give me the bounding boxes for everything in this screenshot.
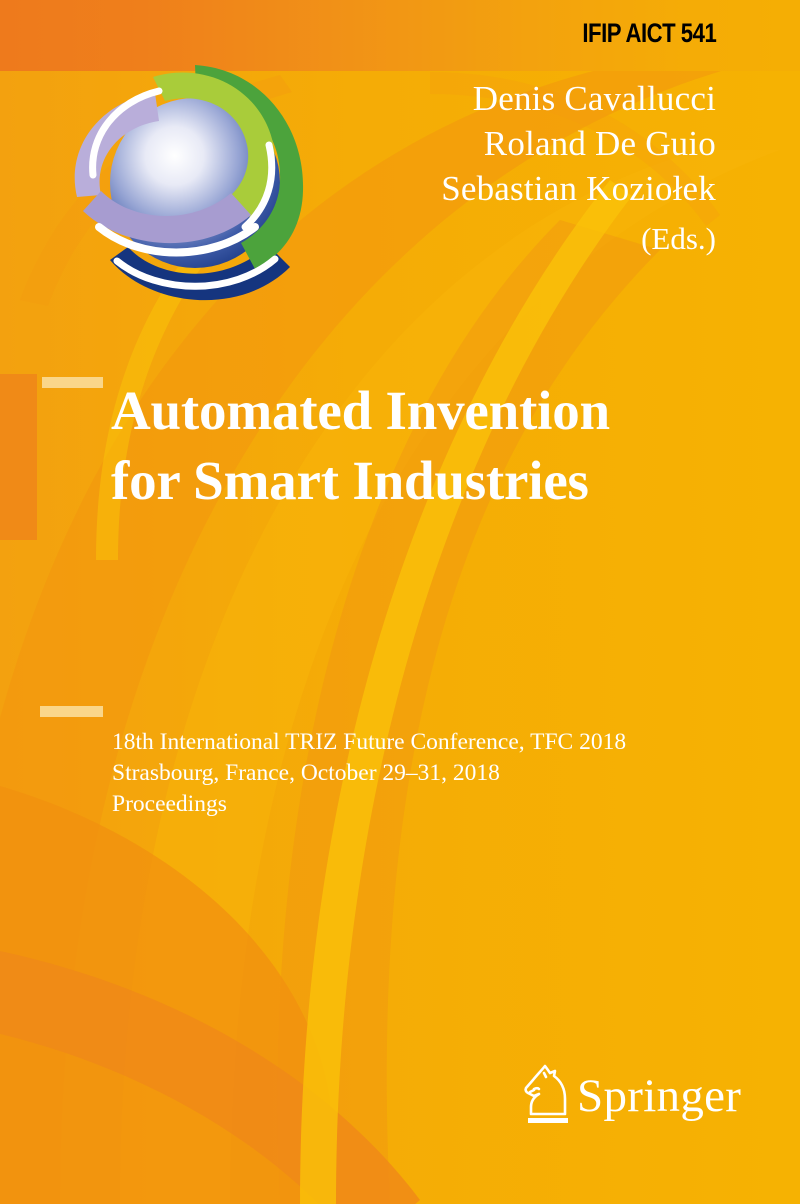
- subtitle-line: Strasbourg, France, October 29–31, 2018: [112, 758, 772, 789]
- left-accent-block: [0, 374, 37, 540]
- editor-name: Sebastian Koziołek: [296, 166, 716, 211]
- title-accent-dash: [42, 377, 103, 388]
- series-code: IFIP AICT 541: [582, 18, 716, 49]
- ifip-globe-icon: [55, 55, 330, 310]
- editor-name: Roland De Guio: [296, 121, 716, 166]
- springer-knight-icon: [515, 1062, 573, 1130]
- subtitle-line: Proceedings: [112, 789, 772, 820]
- publisher-logo: Springer: [515, 1062, 725, 1134]
- editors-role: (Eds.): [296, 217, 716, 261]
- editors-block: Denis Cavallucci Roland De Guio Sebastia…: [296, 76, 716, 261]
- subtitle-accent-dash: [40, 706, 103, 717]
- title-line: for Smart Industries: [111, 446, 771, 516]
- editor-name: Denis Cavallucci: [296, 76, 716, 121]
- title-line: Automated Invention: [111, 376, 771, 446]
- subtitle-line: 18th International TRIZ Future Conferenc…: [112, 727, 772, 758]
- publisher-name: Springer: [577, 1068, 741, 1124]
- page-title: Automated Invention for Smart Industries: [111, 376, 771, 516]
- book-cover: IFIP AICT 541 Deni: [0, 0, 800, 1204]
- subtitle-block: 18th International TRIZ Future Conferenc…: [112, 727, 772, 820]
